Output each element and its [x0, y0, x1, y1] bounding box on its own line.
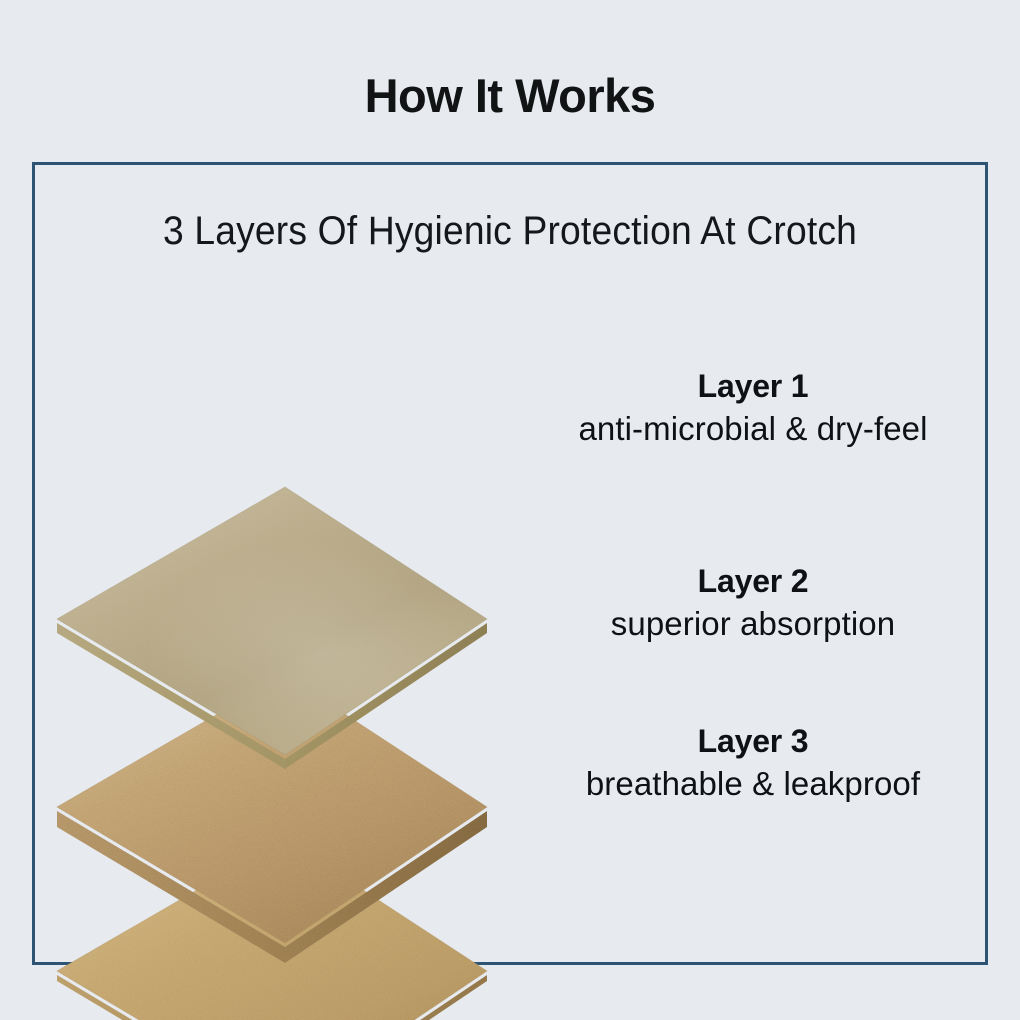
- layer-3-description: breathable & leakproof: [515, 763, 991, 806]
- layer-2-label: Layer 2 superior absorption: [515, 563, 991, 646]
- infographic-canvas: How It Works 3 Layers Of Hygienic Protec…: [0, 0, 1020, 1020]
- layer-3-title: Layer 3: [515, 723, 991, 761]
- panel-subtitle: 3 Layers Of Hygienic Protection At Crotc…: [68, 209, 952, 254]
- layer-1-label: Layer 1 anti-microbial & dry-feel: [515, 368, 991, 451]
- layer-stack-diagram: [35, 315, 555, 955]
- layer-1-title: Layer 1: [515, 368, 991, 406]
- layer-2-description: superior absorption: [515, 603, 991, 646]
- layer-1-sheet: [35, 315, 555, 955]
- layer-2-title: Layer 2: [515, 563, 991, 601]
- layer-3-label: Layer 3 breathable & leakproof: [515, 723, 991, 806]
- content-panel: 3 Layers Of Hygienic Protection At Crotc…: [32, 162, 988, 965]
- layer-1-sheen: [57, 487, 487, 755]
- page-title: How It Works: [0, 68, 1020, 123]
- layer-1-description: anti-microbial & dry-feel: [515, 408, 991, 451]
